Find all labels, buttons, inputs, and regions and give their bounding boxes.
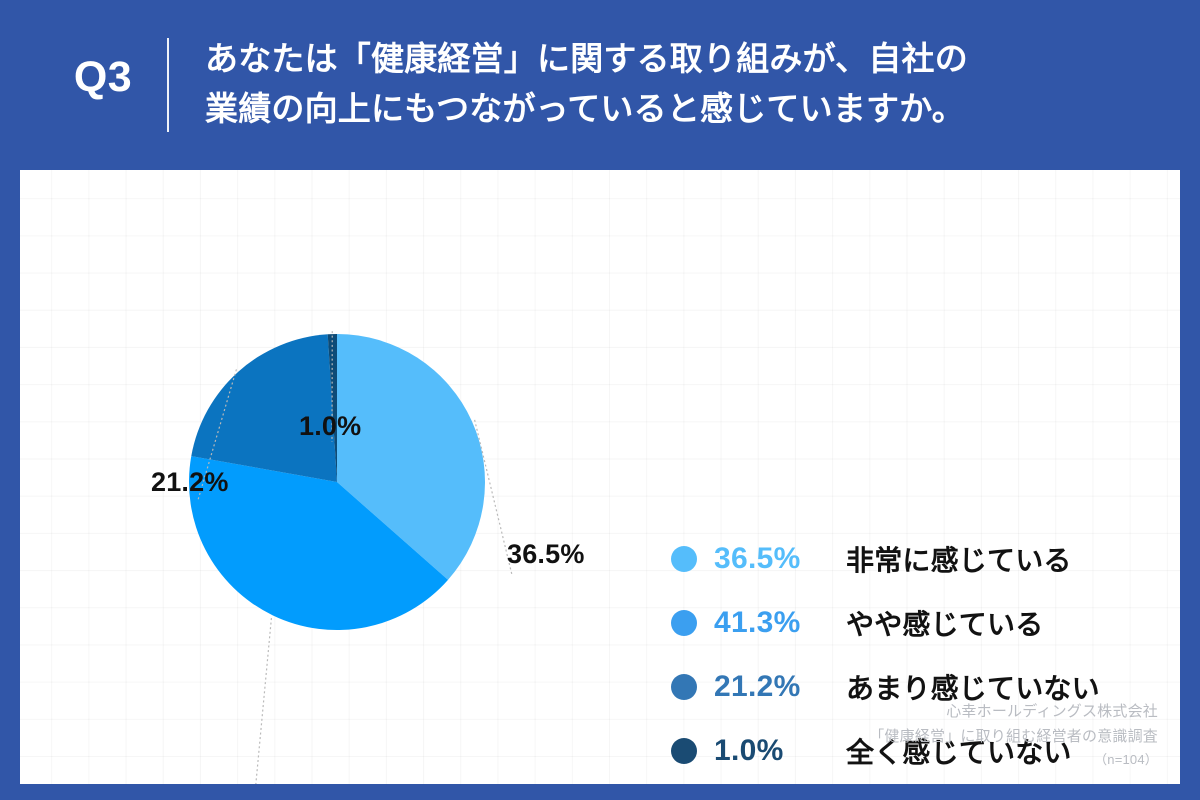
header-divider xyxy=(167,38,169,132)
legend-swatch-icon xyxy=(671,738,697,764)
page-title-line-2: 業績の向上にもつながっていると感じていますか。 xyxy=(205,84,1165,134)
pie-value-label-2: 21.2% xyxy=(151,467,229,498)
slide-root: Q3 あなたは「健康経営」に関する取り組みが、自社の 業績の向上にもつながってい… xyxy=(0,0,1200,800)
legend-percent: 41.3% xyxy=(714,606,846,640)
pie-leader-line xyxy=(252,618,271,784)
page-title-line-1: あなたは「健康経営」に関する取り組みが、自社の xyxy=(205,34,1165,84)
legend-swatch-icon xyxy=(671,546,697,572)
legend-percent: 1.0% xyxy=(714,734,846,768)
legend-item[interactable]: 36.5%非常に感じている xyxy=(671,527,1141,591)
source-footer: 心幸ホールディングス株式会社 「健康経営」に取り組む経営者の意識調査 （n=10… xyxy=(869,700,1158,770)
page-title: あなたは「健康経営」に関する取り組みが、自社の 業績の向上にもつながっていると感… xyxy=(205,34,1165,134)
source-survey-name: 「健康経営」に取り組む経営者の意識調査 xyxy=(869,725,1158,749)
source-company: 心幸ホールディングス株式会社 xyxy=(869,700,1158,724)
pie-value-label-0: 36.5% xyxy=(507,539,585,570)
legend-item[interactable]: 41.3%やや感じている xyxy=(671,591,1141,655)
legend-label: やや感じている xyxy=(846,603,1043,643)
pie-slice[interactable] xyxy=(191,334,337,482)
legend-swatch-icon xyxy=(671,610,697,636)
legend-percent: 21.2% xyxy=(714,670,846,704)
question-number: Q3 xyxy=(48,56,158,99)
chart-card: 36.5% 41.3% 21.2% 1.0% 36.5%非常に感じている41.3… xyxy=(20,170,1180,784)
legend-percent: 36.5% xyxy=(714,542,846,576)
pie-value-label-3: 1.0% xyxy=(299,411,361,442)
source-sample-size: （n=104） xyxy=(869,749,1158,770)
question-header: Q3 あなたは「健康経営」に関する取り組みが、自社の 業績の向上にもつながってい… xyxy=(0,0,1200,170)
legend-label: 非常に感じている xyxy=(846,539,1072,579)
legend-swatch-icon xyxy=(671,674,697,700)
